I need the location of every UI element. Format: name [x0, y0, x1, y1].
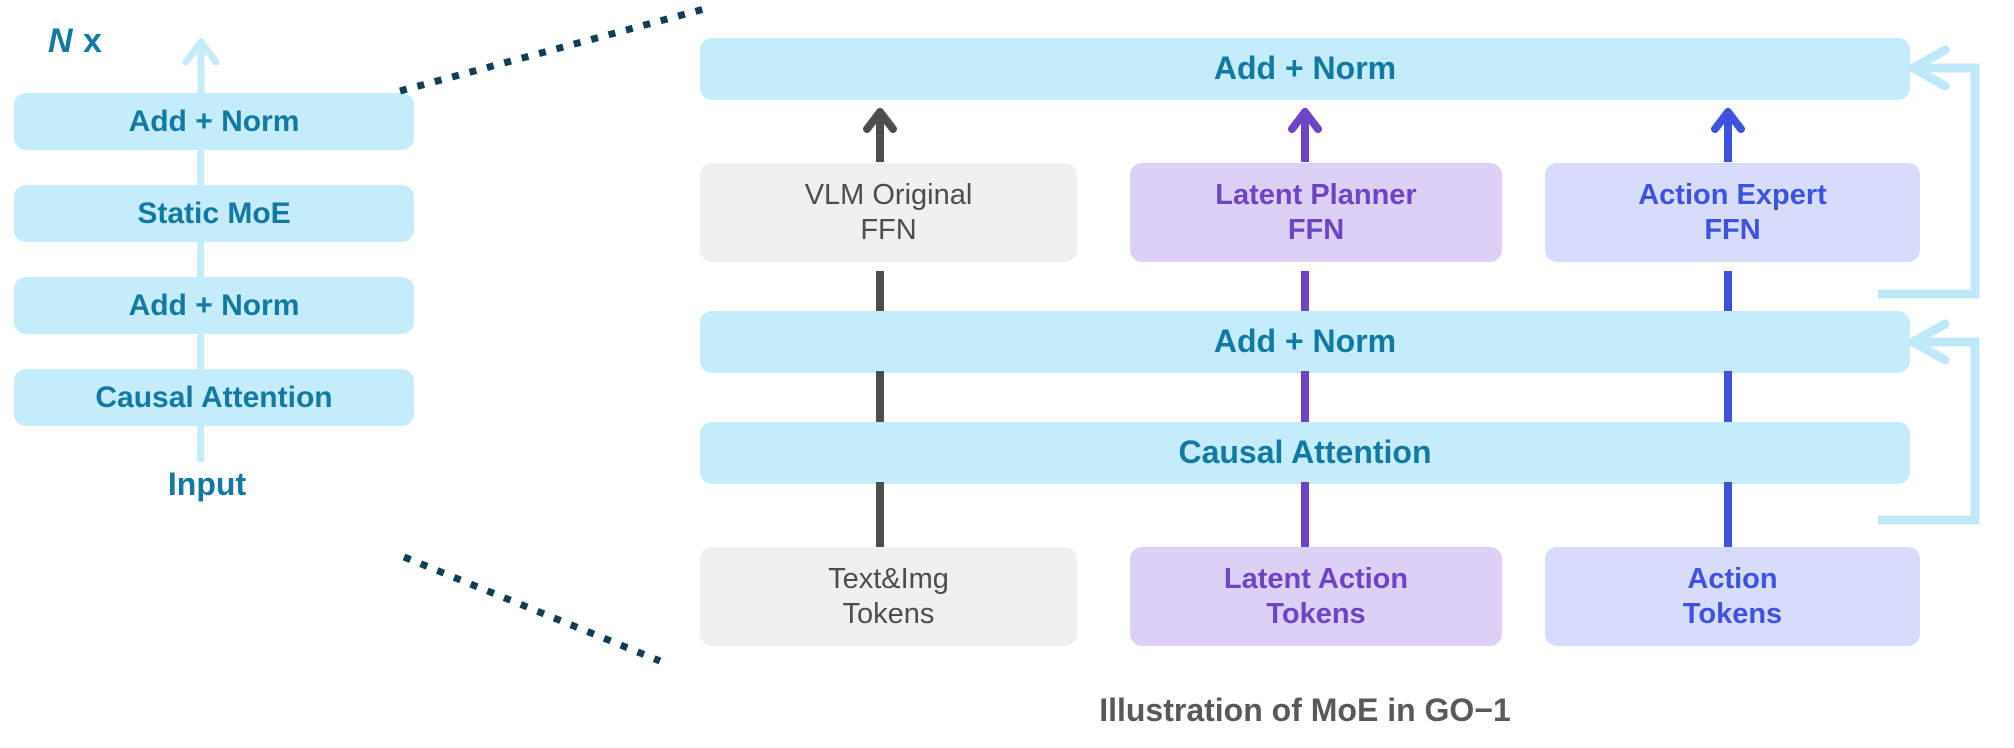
figure-caption: Illustration of MoE in GO−1: [700, 692, 1910, 729]
residual-path-lower: [1878, 324, 1975, 520]
residual-path-upper: [1878, 50, 1975, 294]
figure-canvas: N x Add + Norm Static MoE Add + Norm Cau…: [0, 0, 2014, 748]
residual-connections: [0, 0, 2014, 748]
